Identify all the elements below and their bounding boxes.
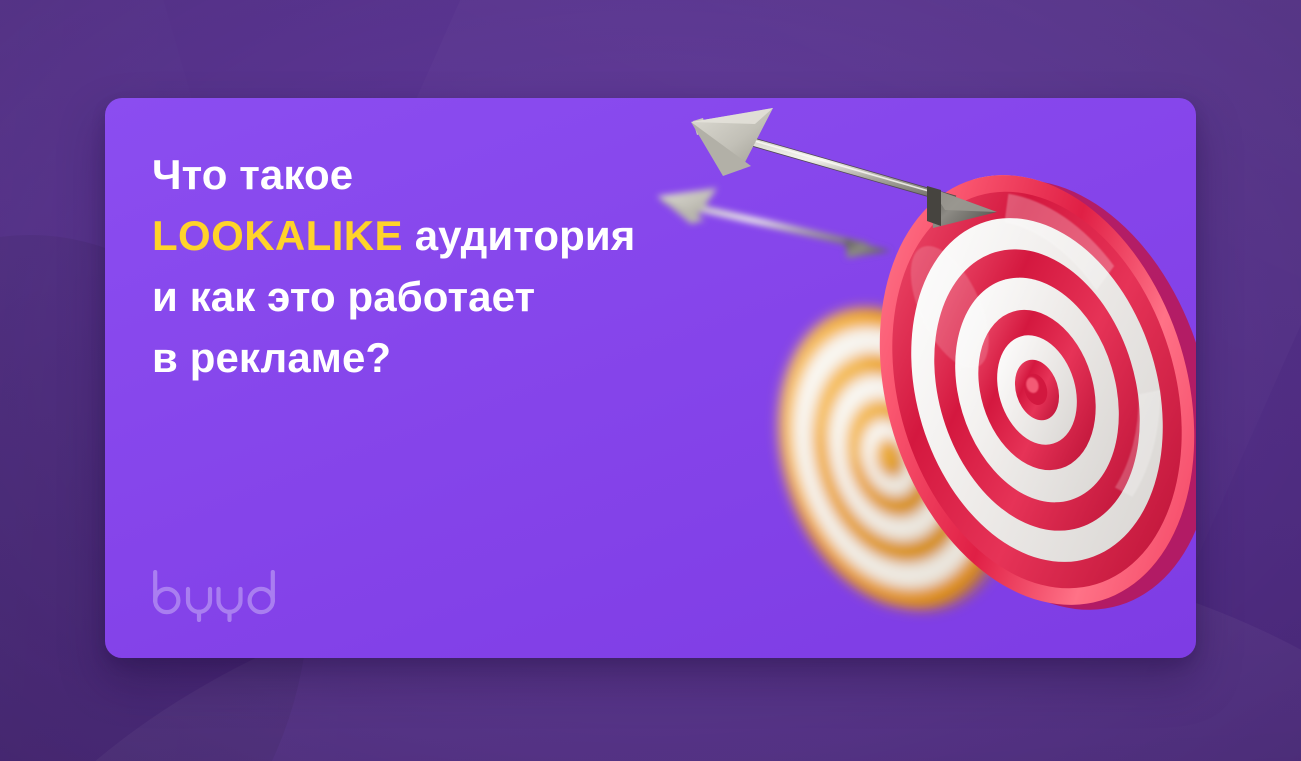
promo-card: Что такое LOOKALIKE аудитория и как это … — [105, 98, 1196, 658]
back-arrow — [657, 188, 891, 258]
screenshot-canvas: Что такое LOOKALIKE аудитория и как это … — [0, 0, 1301, 761]
dartboard-illustration — [645, 98, 1196, 658]
byyd-logo — [152, 570, 276, 622]
dartboard-illustration-svg — [645, 98, 1196, 658]
byyd-logo-icon — [152, 570, 276, 622]
headline-highlight: LOOKALIKE — [152, 212, 403, 259]
headline-line-2-rest: аудитория — [403, 212, 635, 259]
front-arrow — [691, 108, 997, 228]
